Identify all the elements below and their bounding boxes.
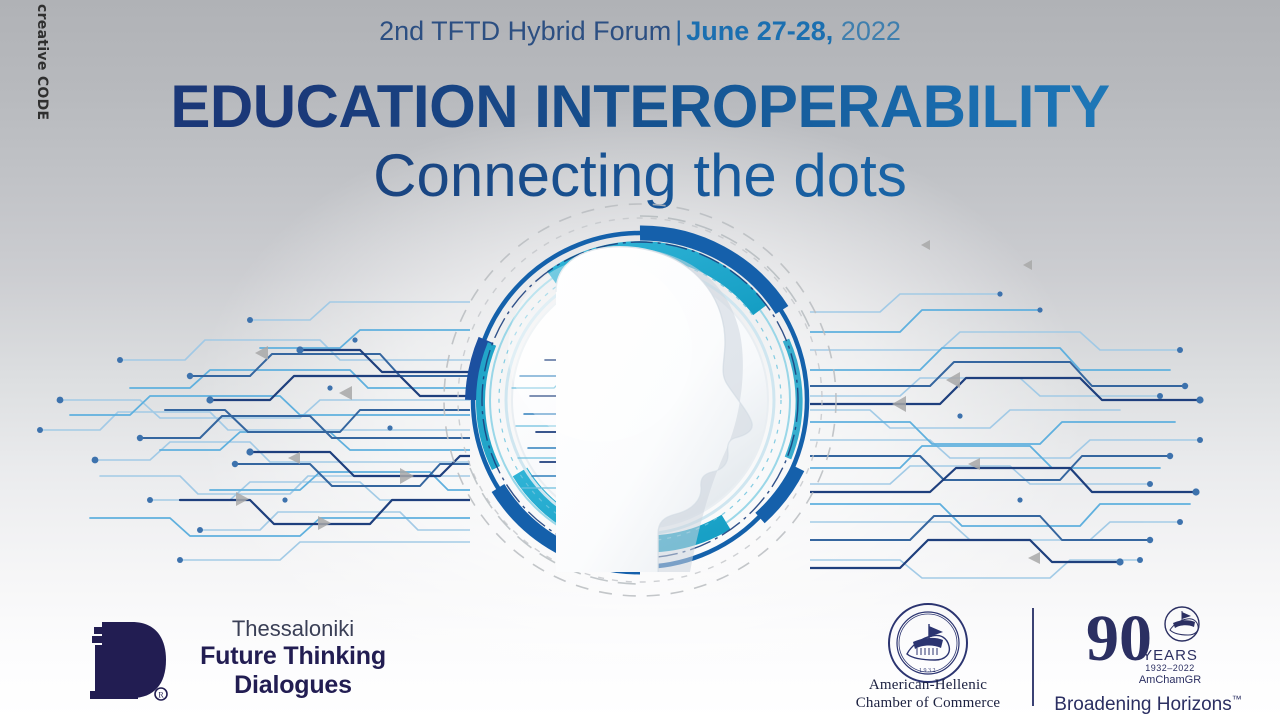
tftd-d-columns-mark: R [78, 614, 170, 706]
tftd-line1: Future Thinking [178, 642, 408, 671]
american-hellenic-chamber-seal: 1932 [887, 602, 969, 684]
tftd-logo: R Thessaloniki Future Thinking Dialogues [78, 610, 408, 710]
tftd-city: Thessaloniki [178, 616, 408, 642]
ninety-years-logo: 90 YEARS 1932–2022 AmChamGR Broadening H… [1048, 600, 1248, 716]
seal-year: 1932 [919, 668, 937, 674]
amcham-name: American-Hellenic Chamber of Commerce [838, 676, 1018, 712]
amcham-name-line2: Chamber of Commerce [838, 694, 1018, 712]
tagline-tm: ™ [1232, 695, 1242, 706]
ninety-years-mark: 90 YEARS 1932–2022 AmChamGR [1078, 598, 1218, 684]
kicker-dates: June 27-28, [686, 16, 833, 46]
event-kicker: 2nd TFTD Hybrid Forum|June 27-28, 2022 [0, 14, 1280, 48]
footer-logos: R Thessaloniki Future Thinking Dialogues [0, 595, 1280, 720]
tagline-text: Broadening Horizons [1054, 694, 1231, 715]
ninety-years-label: YEARS [1142, 647, 1198, 664]
tftd-line2: Dialogues [178, 671, 408, 700]
page-title: EDUCATION INTEROPERABILITY [0, 74, 1280, 140]
ninety-org: AmChamGR [1139, 674, 1201, 684]
ninety-span: 1932–2022 [1145, 663, 1195, 673]
kicker-year: 2022 [841, 16, 901, 46]
kicker-prefix: 2nd TFTD Hybrid Forum [379, 16, 671, 46]
tftd-wordmark: Thessaloniki Future Thinking Dialogues [178, 616, 408, 700]
ai-face-circuit-illustration [0, 200, 1280, 620]
ninety-number: 90 [1086, 602, 1152, 675]
amcham-name-line1: American-Hellenic [838, 676, 1018, 694]
footer-divider [1032, 608, 1034, 706]
svg-text:R: R [158, 691, 164, 700]
broadening-horizons-tagline: Broadening Horizons™ [1048, 694, 1248, 716]
amcham-logo: 1932 American-Hellenic Chamber of Commer… [838, 602, 1018, 714]
kicker-separator: | [675, 16, 682, 46]
slide-canvas: creative CODE 2nd TFTD Hybrid Forum|June… [0, 0, 1280, 720]
